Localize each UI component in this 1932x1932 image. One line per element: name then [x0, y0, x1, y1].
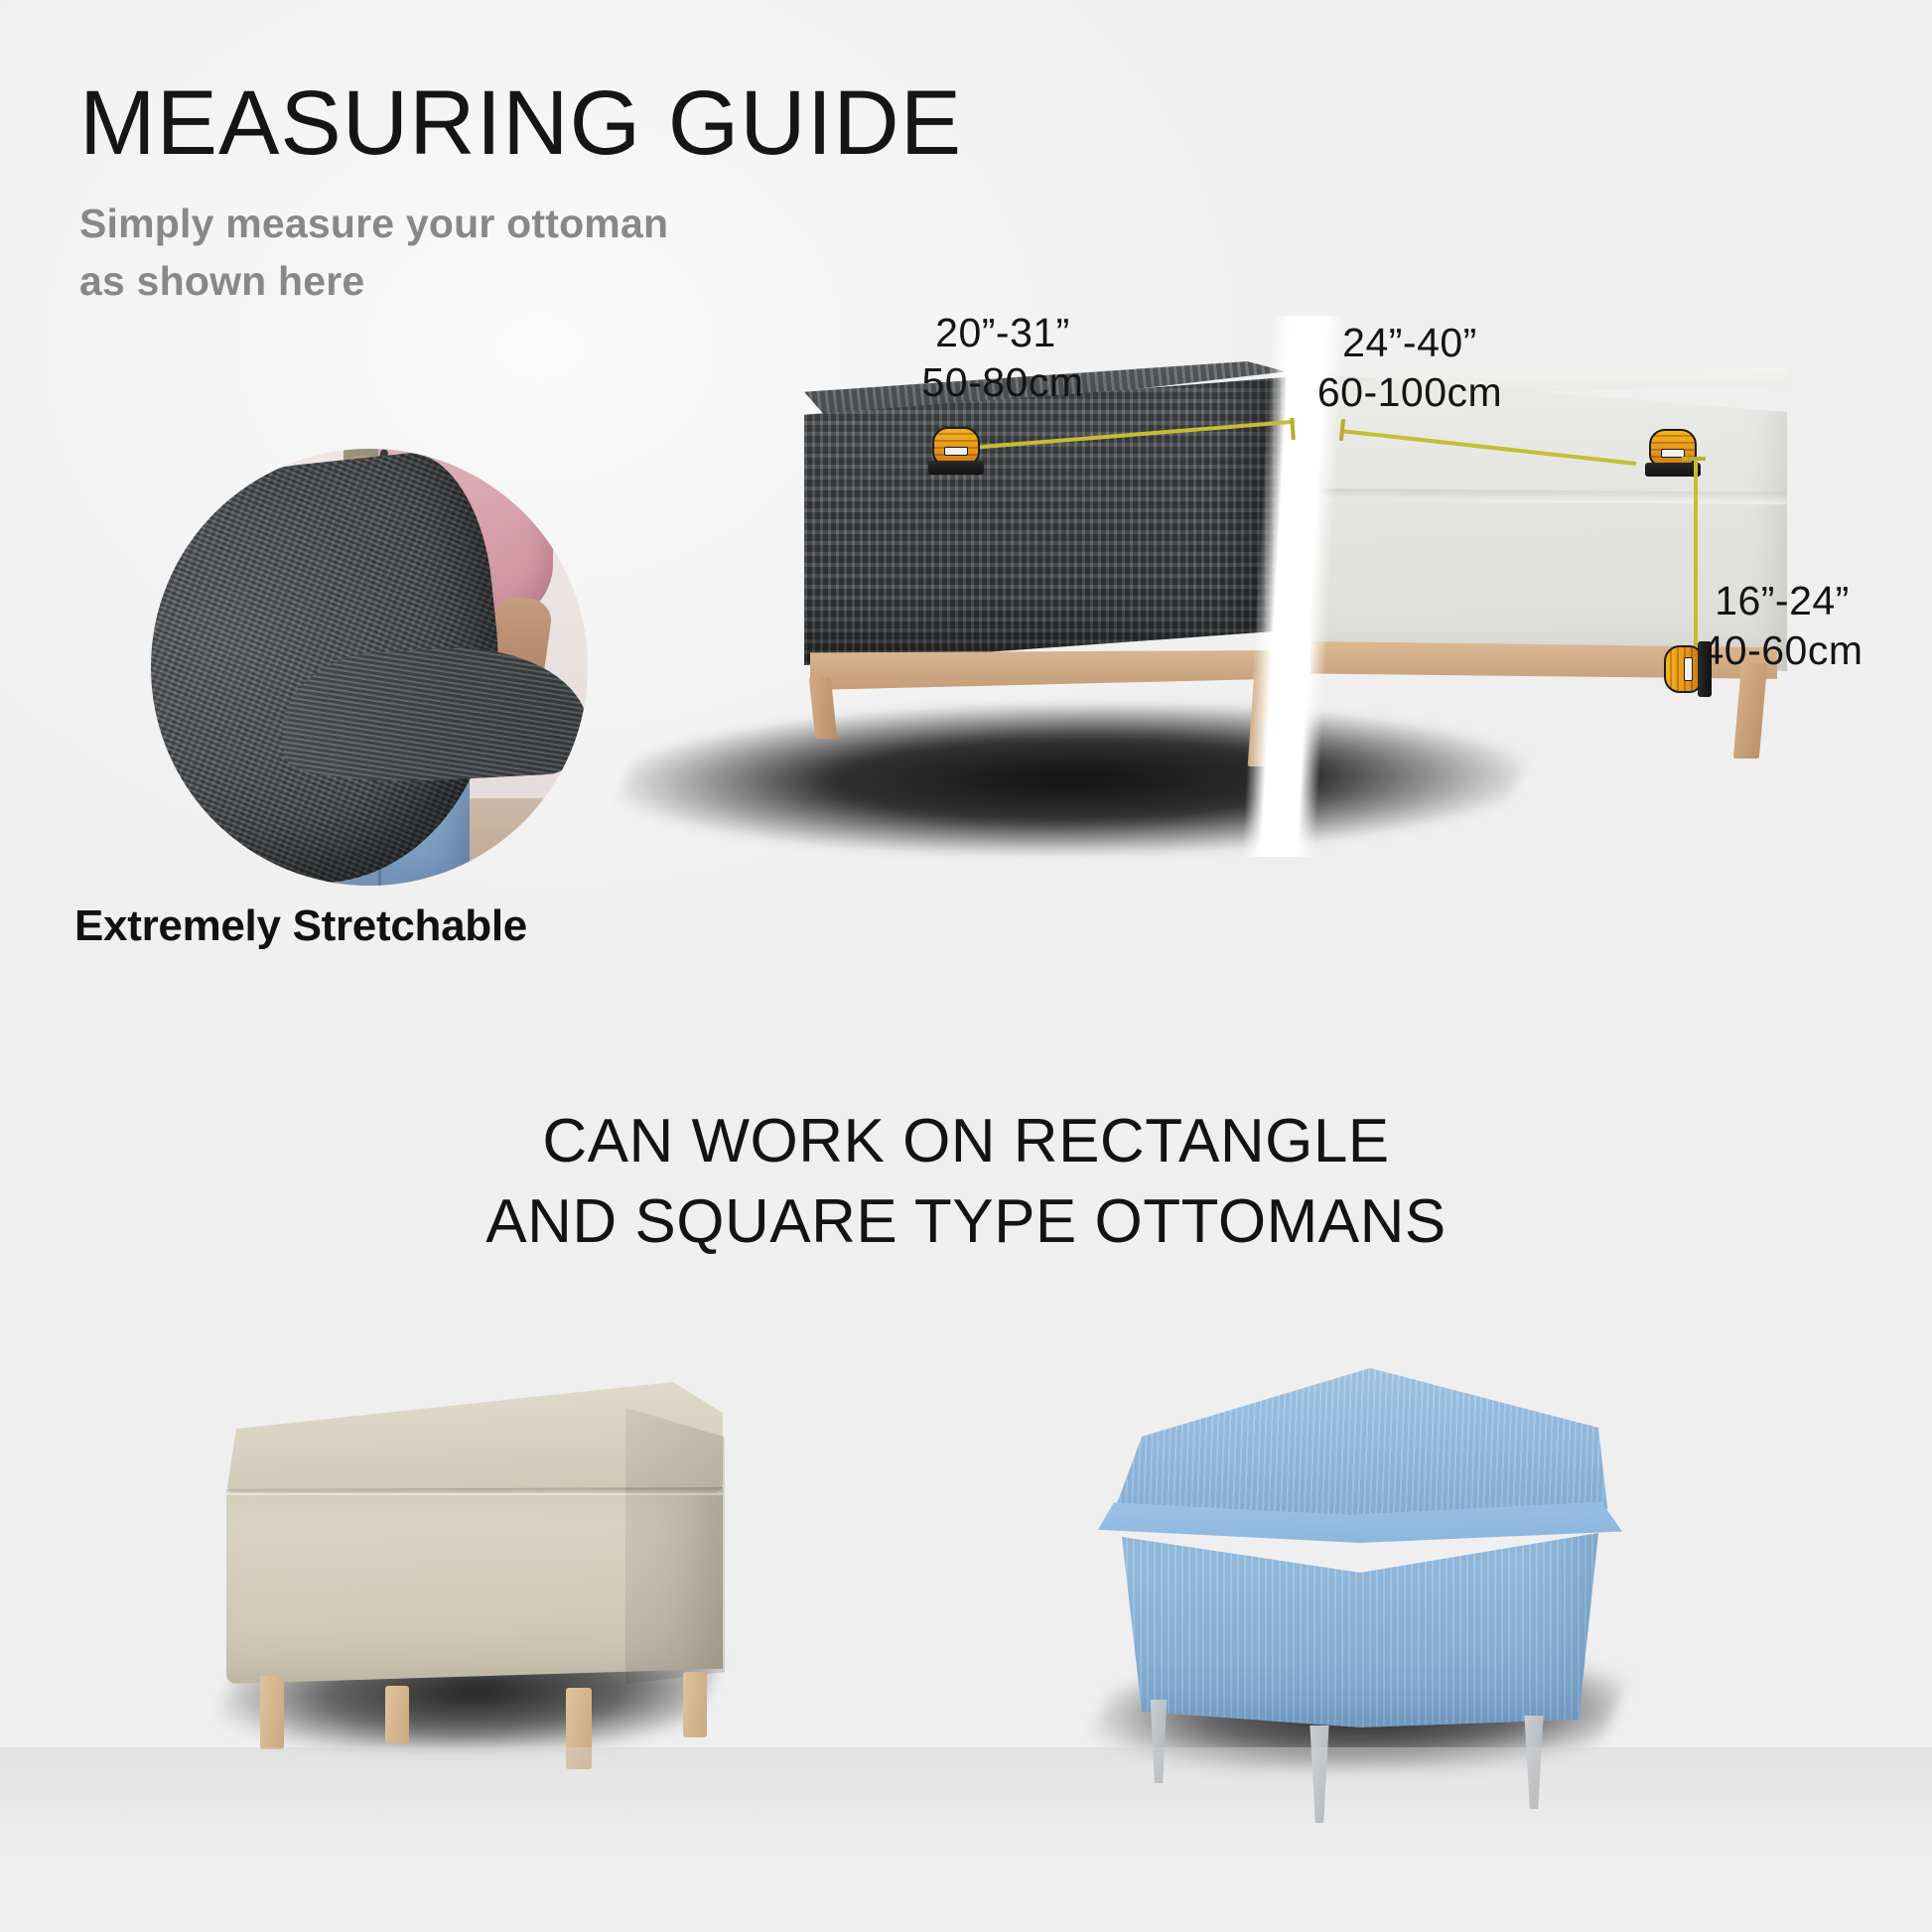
example-ottoman-beige [199, 1360, 755, 1777]
floor-gradient [0, 1747, 1932, 1932]
tape-measure-icon [928, 425, 986, 475]
tape-measure-icon [1643, 427, 1701, 477]
tape-case [1664, 645, 1702, 693]
compatibility-headline: CAN WORK ON RECTANGLE AND SQUARE TYPE OT… [0, 1102, 1932, 1262]
width-inches: 20”-31” [921, 308, 1083, 357]
stretch-caption: Extremely Stretchable [74, 901, 789, 951]
page-title: MEASURING GUIDE [79, 77, 1172, 169]
tape-base [928, 461, 984, 475]
height-measure-endtick-top [1682, 457, 1706, 461]
depth-inches: 24”-40” [1317, 318, 1502, 367]
height-metric: 40-60cm [1701, 625, 1863, 675]
blue-ottoman-top [1112, 1368, 1608, 1517]
ottoman-floor-shadow [599, 705, 1547, 854]
wood-frame-left [810, 650, 1277, 690]
measuring-guide-infographic: MEASURING GUIDE Simply measure your otto… [0, 0, 1932, 1932]
width-measure-label: 20”-31” 50-80cm [921, 308, 1083, 407]
subtitle-line-2: as shown here [79, 252, 1172, 310]
width-metric: 50-80cm [921, 357, 1083, 407]
beige-leg-4 [683, 1672, 707, 1737]
beige-leg-2 [385, 1686, 409, 1743]
headline-line-2: AND SQUARE TYPE OTTOMANS [0, 1182, 1932, 1263]
tape-base [1698, 641, 1712, 697]
depth-measure-label: 24”-40” 60-100cm [1317, 318, 1502, 417]
tape-case [932, 427, 980, 465]
beige-leg-1 [260, 1676, 284, 1749]
tape-base [1645, 463, 1701, 477]
depth-metric: 60-100cm [1317, 367, 1502, 417]
tape-measure-icon [1662, 641, 1712, 699]
slipcover-covered-side [804, 377, 1286, 665]
height-inches: 16”-24” [1701, 576, 1863, 625]
beige-ottoman-side-shade [625, 1390, 725, 1684]
subtitle-line-1: Simply measure your ottoman [79, 195, 1172, 252]
ottoman-comparison-scene [616, 328, 1787, 844]
height-measure-label: 16”-24” 40-60cm [1701, 576, 1863, 675]
page-subtitle: Simply measure your ottoman as shown her… [79, 195, 1172, 310]
blue-ottoman-body [1112, 1529, 1608, 1727]
tape-window [1684, 657, 1693, 681]
stretch-demo-photo [151, 449, 588, 886]
example-ottoman-blue [1072, 1330, 1668, 1797]
headline-line-1: CAN WORK ON RECTANGLE [0, 1102, 1932, 1182]
tape-window [944, 447, 968, 456]
tape-case [1649, 429, 1697, 467]
header-block: MEASURING GUIDE Simply measure your otto… [79, 77, 1172, 310]
